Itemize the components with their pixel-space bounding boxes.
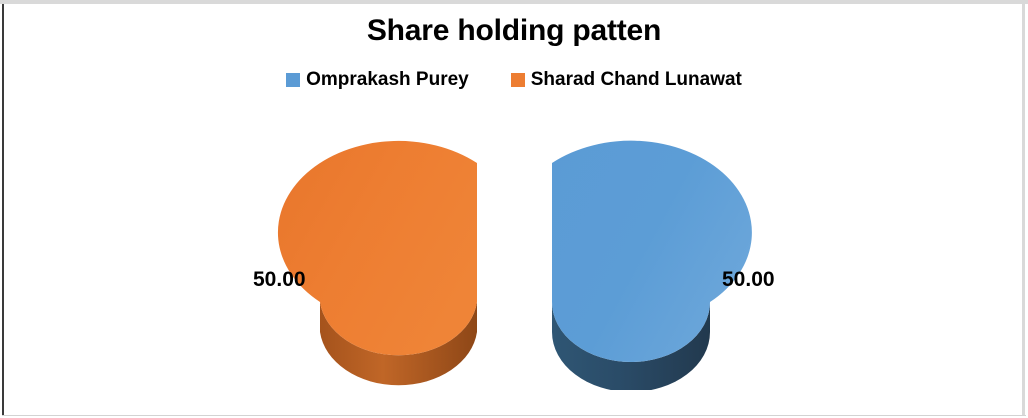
legend-swatch-blue-icon: [286, 73, 300, 87]
chart-legend: Omprakash Purey Sharad Chand Lunawat: [0, 70, 1028, 89]
pie-plot-area: 50.00 50.00: [0, 110, 1028, 390]
legend-swatch-orange-icon: [511, 73, 525, 87]
legend-label-sharad-chand-lunawat: Sharad Chand Lunawat: [531, 70, 742, 89]
pie-slice-blue-top: [552, 141, 752, 362]
legend-label-omprakash-purey: Omprakash Purey: [306, 70, 469, 89]
legend-item-omprakash-purey[interactable]: Omprakash Purey: [286, 70, 469, 89]
pie-slice-sharad-chand-lunawat[interactable]: [278, 141, 477, 385]
pie-slice-orange-top: [278, 141, 477, 355]
chart-container: Share holding patten Omprakash Purey Sha…: [0, 0, 1028, 418]
pie-chart-svg: [0, 110, 1028, 390]
data-label-sharad-chand-lunawat: 50.00: [253, 268, 306, 292]
frame-border-top: [0, 0, 1028, 4]
frame-border-bottom: [2, 415, 1026, 416]
legend-item-sharad-chand-lunawat[interactable]: Sharad Chand Lunawat: [511, 70, 742, 89]
chart-title: Share holding patten: [0, 14, 1028, 48]
data-label-omprakash-purey: 50.00: [722, 268, 775, 292]
pie-slice-omprakash-purey[interactable]: [552, 141, 752, 390]
